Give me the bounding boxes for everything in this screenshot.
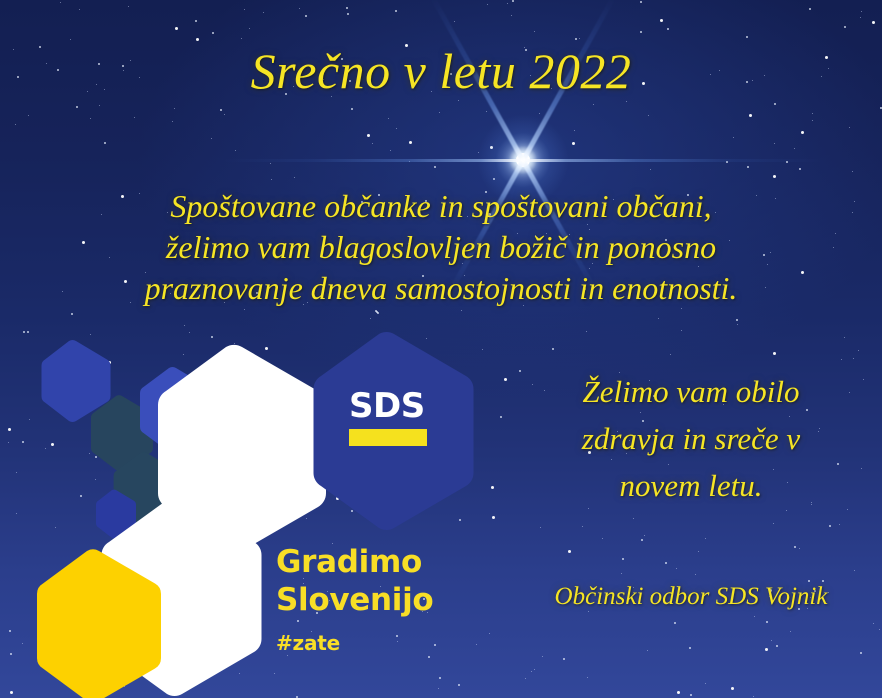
card-signature: Občinski odbor SDS Vojnik [500,583,882,611]
greeting-line-2: želimo vam blagoslovljen božič in ponosn… [0,227,882,268]
wish-line-1: Želimo vam obilo [500,368,882,415]
wish-message: Želimo vam obilo zdravja in sreče v nove… [500,368,882,509]
starfield-layer-bright [0,0,3,3]
star-ray-left-icon [223,159,523,162]
sds-yellow-bar [349,429,427,446]
hexagon-yellow [32,549,166,698]
greeting-line-1: Spoštovane občanke in spoštovani občani, [0,186,882,227]
greeting-message: Spoštovane občanke in spoštovani občani,… [0,186,882,309]
greeting-line-3: praznovanje dneva samostojnosti in enotn… [0,268,882,309]
sds-wordmark-text: SDS [349,389,435,423]
slogan-line-1: Gradimo [276,543,433,581]
card-title: Srečno v letu 2022 [0,42,882,100]
greeting-card: SDS Gradimo Slovenijo #zate Srečno v let… [0,0,882,698]
wish-line-3: novem letu. [500,462,882,509]
star-ray-right-icon [523,159,823,162]
wish-line-2: zdravja in sreče v [500,415,882,462]
logo-slogan: Gradimo Slovenijo #zate [276,543,433,654]
slogan-hashtag: #zate [276,632,433,654]
sds-wordmark-lockup: SDS [349,389,435,446]
slogan-line-2: Slovenijo [276,581,433,619]
